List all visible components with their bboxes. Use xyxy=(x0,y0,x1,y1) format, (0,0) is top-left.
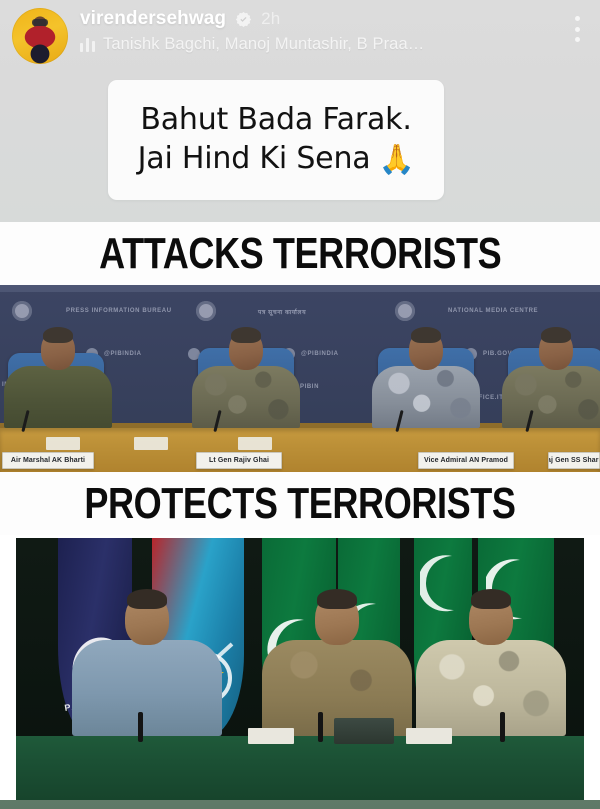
story-header-row: virendersehwag 2h Tanishk Bagchi, Manoj … xyxy=(0,0,600,70)
desk-paper xyxy=(134,437,168,450)
pakistan-table xyxy=(16,736,584,800)
pib-emblem-icon xyxy=(395,301,415,321)
pakistan-bottom-band xyxy=(0,800,600,809)
officer-pakistan-army xyxy=(262,593,412,736)
desk-paper xyxy=(238,437,272,450)
banner-bottom-text: PROTECTS TERRORISTS xyxy=(84,479,515,529)
microphone-icon xyxy=(138,712,143,742)
header-text-block: virendersehwag 2h Tanishk Bagchi, Manoj … xyxy=(80,6,564,54)
caption-line-2: Jai Hind Ki Sena xyxy=(138,141,371,178)
nameplate-air-marshal: Air Marshal AK Bharti xyxy=(2,452,94,469)
india-backdrop-top-strip xyxy=(0,285,600,292)
verified-badge-icon xyxy=(235,11,252,28)
desk-paper xyxy=(248,728,294,744)
microphone-icon xyxy=(500,712,505,742)
nameplate-vice-admiral: Vice Admiral AN Pramod xyxy=(418,452,514,469)
avatar[interactable] xyxy=(12,8,68,64)
nameplate-maj-gen: Maj Gen SS Sharda xyxy=(548,452,600,469)
officer-air-marshal xyxy=(4,330,112,428)
story-screen: virendersehwag 2h Tanishk Bagchi, Manoj … xyxy=(0,0,600,809)
username-row: virendersehwag 2h xyxy=(80,8,564,30)
caption-line-1: Bahut Bada Farak. xyxy=(140,102,411,139)
pakistan-photo-frame: PAKISTAN NAVY xyxy=(16,538,584,800)
banner-protects-terrorists: PROTECTS TERRORISTS xyxy=(0,472,600,535)
watermark-nmc: NATIONAL MEDIA CENTRE xyxy=(448,308,538,314)
officer-vice-admiral xyxy=(372,330,480,428)
banner-top-text: ATTACKS TERRORISTS xyxy=(99,229,501,279)
watermark-info-bureau-2: pibin xyxy=(300,384,319,390)
audio-credit-row[interactable]: Tanishk Bagchi, Manoj Muntashir, B Praa… xyxy=(80,35,564,54)
nameplate-lt-gen: Lt Gen Rajiv Ghai xyxy=(196,452,282,469)
officer-pakistan-air-force xyxy=(72,593,222,736)
photo-pakistan-press-conference: PAKISTAN NAVY xyxy=(0,535,600,809)
caption-card: Bahut Bada Farak. Jai Hind Ki Sena 🙏 xyxy=(108,80,444,200)
folded-hands-emoji: 🙏 xyxy=(378,145,414,174)
officer-pakistan-army-camo xyxy=(416,593,566,736)
laptop-on-table xyxy=(334,718,394,744)
pib-emblem-icon xyxy=(12,301,32,321)
username[interactable]: virendersehwag xyxy=(80,8,226,30)
caption-line-2-row: Jai Hind Ki Sena 🙏 xyxy=(138,141,415,178)
timestamp: 2h xyxy=(261,9,280,29)
story-header-area: virendersehwag 2h Tanishk Bagchi, Manoj … xyxy=(0,0,600,222)
audio-credit-label: Tanishk Bagchi, Manoj Muntashir, B Praa… xyxy=(103,35,424,54)
watermark-pib-hindi: पत्र सूचना कार्यालय xyxy=(258,308,306,316)
audio-equalizer-icon xyxy=(80,38,95,52)
microphone-icon xyxy=(318,712,323,742)
watermark-pib-english: PRESS INFORMATION BUREAU xyxy=(66,308,172,314)
handle-pibindia-2: @pibindia xyxy=(301,351,339,357)
desk-paper xyxy=(46,437,80,450)
desk-paper xyxy=(406,728,452,744)
pib-emblem-icon xyxy=(196,301,216,321)
more-options-kebab-icon[interactable] xyxy=(564,12,590,46)
officer-maj-gen xyxy=(502,330,600,428)
banner-attacks-terrorists: ATTACKS TERRORISTS xyxy=(0,222,600,285)
photo-india-press-conference: PRESS INFORMATION BUREAU पत्र सूचना कार्… xyxy=(0,285,600,472)
officer-lt-gen xyxy=(192,330,300,428)
